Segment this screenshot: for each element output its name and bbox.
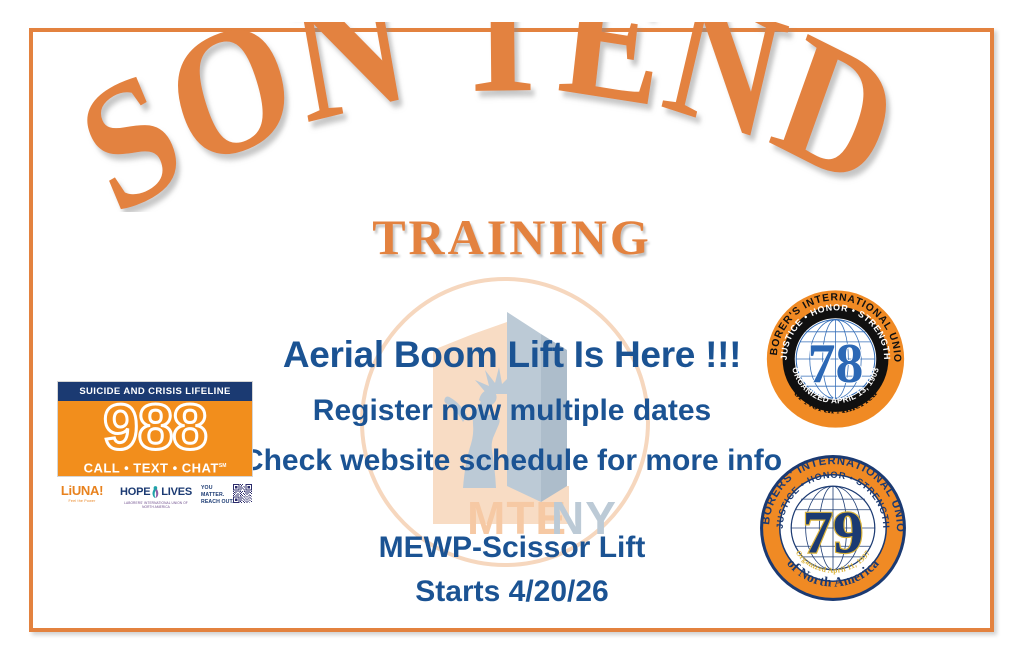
seal-local-78: 78 LABORER'S INTERNATIONAL UNION of Nort…: [764, 283, 907, 435]
liuna-wordmark: LiUNA!: [59, 483, 105, 498]
lifeline-number: 988: [58, 398, 252, 456]
seal-78-number: 78: [808, 333, 864, 395]
lifeline-actions: CALL • TEXT • CHATSM: [58, 458, 252, 474]
lives-wordmark: LIVES: [161, 486, 192, 498]
hope-wordmark: HOPE: [120, 486, 150, 498]
seal-local-79: 79 LABORERS' INTERNATIONAL UNION of Nort…: [757, 452, 909, 604]
svg-text:MASON TENDERS: MASON TENDERS: [0, 22, 922, 212]
flyer-canvas: MTE NY MASON TENDERS TRAINING Aerial Boo…: [0, 0, 1024, 663]
liuna-logo: LiUNA! Feel the Power: [59, 483, 105, 503]
headline-textpath: MASON TENDERS: [0, 22, 922, 212]
hope-lives-logo: HOPE LIVES LABORERS' INTERNATIONAL UNION…: [120, 484, 192, 509]
page-subtitle: TRAINING: [0, 208, 1024, 266]
lifeline-panel: SUICIDE AND CRISIS LIFELINE 988 CALL • T…: [57, 381, 253, 477]
lifeline-trademark: SM: [219, 463, 227, 469]
lifeline-988-card: SUICIDE AND CRISIS LIFELINE 988 CALL • T…: [57, 381, 253, 509]
seal-79-number: 79: [803, 499, 864, 566]
lifeline-actions-text: CALL • TEXT • CHAT: [84, 460, 219, 475]
qr-code-icon[interactable]: [233, 484, 252, 503]
lifeline-partner-row: LiUNA! Feel the Power HOPE LIVES LABORER…: [57, 481, 253, 509]
awareness-ribbon-icon: [151, 484, 160, 500]
liuna-tagline: Feel the Power: [59, 499, 105, 503]
you-matter-line-1: YOU MATTER.: [201, 485, 234, 499]
page-title: MASON TENDERS: [0, 22, 1024, 212]
you-matter-line-2: REACH OUT.: [201, 499, 234, 506]
hope-lives-tagline: LABORERS' INTERNATIONAL UNION OF NORTH A…: [120, 501, 192, 509]
you-matter-text: YOU MATTER. REACH OUT.: [201, 485, 234, 506]
